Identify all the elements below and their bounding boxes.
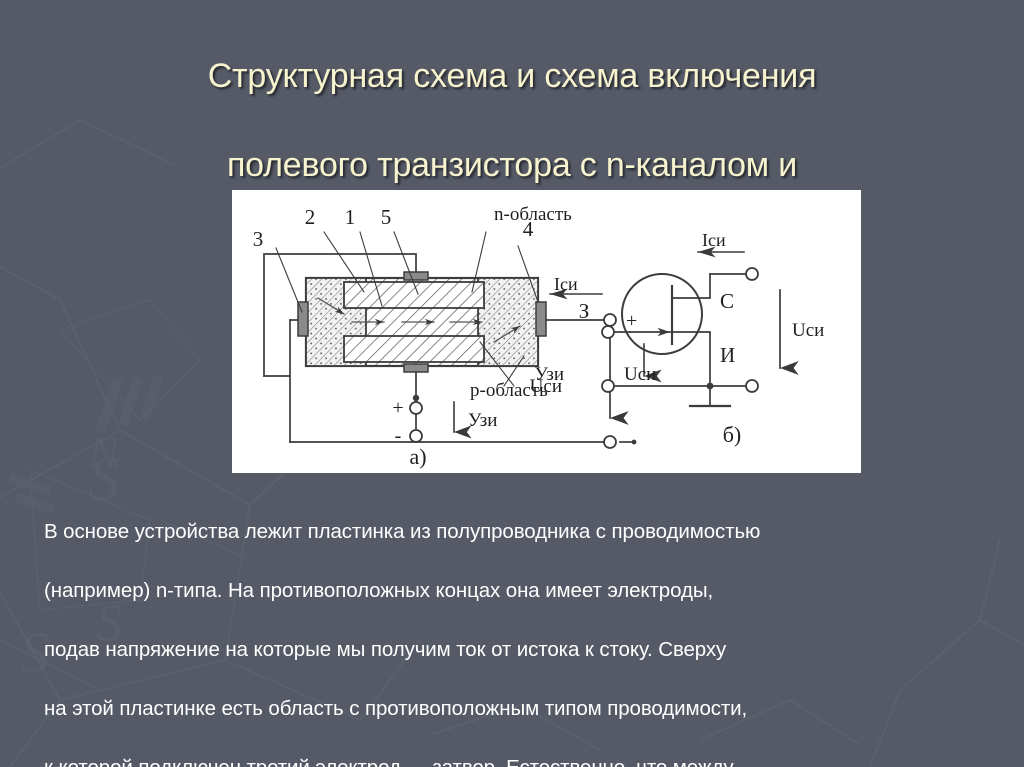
figure-label-drain-c: С [720, 289, 734, 313]
figure-caption-b: б) [723, 422, 742, 447]
figure-label-5: 5 [381, 205, 392, 229]
body-line-1: В основе устройства лежит пластинка из п… [44, 517, 944, 547]
figure-label-2: 2 [305, 205, 316, 229]
figure-label-isi-a: Iси [554, 274, 578, 294]
figure-sign-plus-gate: + [392, 397, 403, 419]
jfet-diagram: 2 1 5 3 4 n-область p-область Iси Uси Уз… [232, 190, 861, 473]
svg-text:N: N [87, 427, 121, 478]
body-line-3: подав напряжение на которые мы получим т… [44, 635, 944, 665]
figure-label-3: 3 [253, 227, 264, 251]
figure-label-source-i: И [720, 343, 735, 367]
figure-label-n-region: n-область [494, 204, 572, 225]
figure-label-1: 1 [345, 205, 356, 229]
body-line-5: к которой подключен третий электрод — за… [44, 753, 944, 767]
figure-label-usi-b: Uси [792, 320, 824, 341]
figure-panel: 2 1 5 3 4 n-область p-область Iси Uси Уз… [232, 190, 861, 473]
body-line-2: (например) n-типа. На противоположных ко… [44, 576, 944, 606]
figure-label-usi-left: Uси [530, 376, 562, 397]
figure-label-usi-a: Uси [624, 364, 656, 385]
body-line-4: на этой пластинке есть область с противо… [44, 694, 944, 724]
figure-label-uzi-a: Узи [468, 410, 497, 431]
slide-root: S S S N Структурная схема и схема включе… [0, 0, 1024, 767]
figure-sign-plus-drain: + [626, 310, 637, 332]
body-text: В основе устройства лежит пластинка из п… [44, 487, 944, 767]
title-line-1: Структурная схема и схема включения [62, 54, 962, 98]
figure-label-isi-b: Iси [702, 230, 726, 250]
title-line-2: полевого транзистора с n-каналом и [62, 143, 962, 187]
figure-caption-a: а) [409, 444, 426, 469]
figure-label-gate-z: З [579, 299, 590, 323]
figure-sign-minus-gate: - [395, 425, 402, 447]
